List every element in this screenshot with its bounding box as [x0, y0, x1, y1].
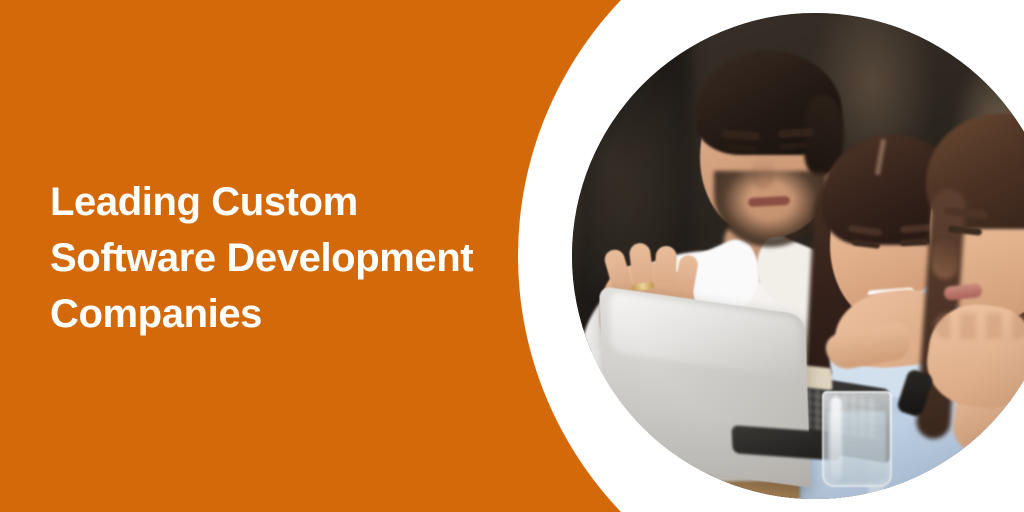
hero-photo	[572, 13, 1024, 499]
marketing-banner: Leading Custom Software Development Comp…	[0, 0, 1024, 512]
woman-foreground-knuckles	[934, 313, 1024, 339]
banner-headline: Leading Custom Software Development Comp…	[50, 174, 520, 342]
woman-foreground-nose	[932, 239, 958, 279]
water-glass-highlight	[830, 397, 842, 481]
hero-photo-circle	[572, 13, 1024, 499]
